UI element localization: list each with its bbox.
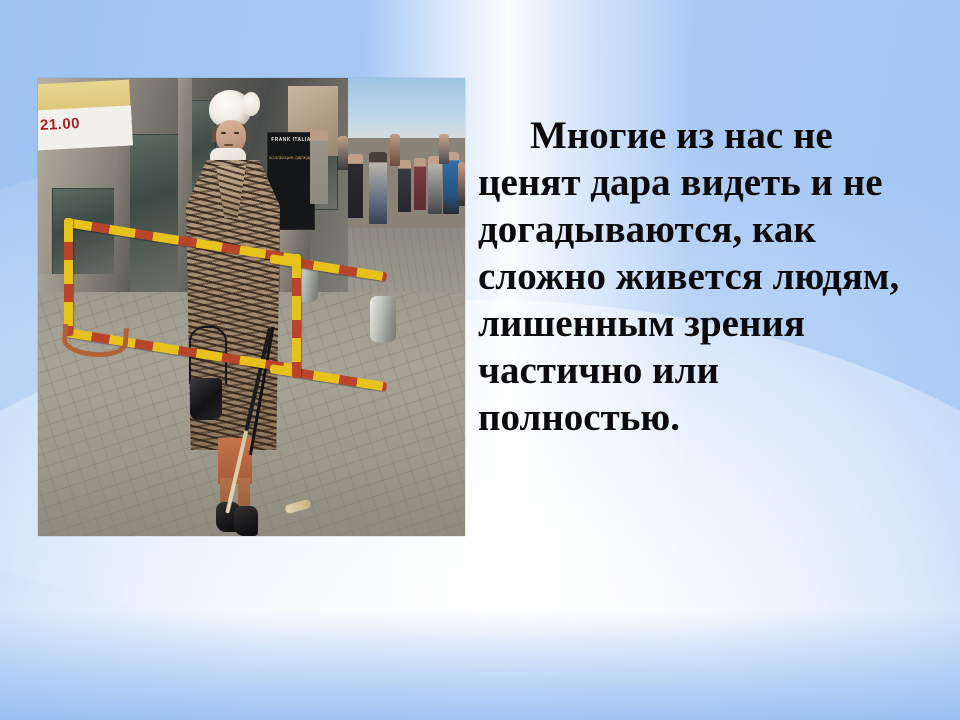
shop-window: [52, 188, 118, 286]
pedestrian: [439, 134, 449, 164]
pedestrian: [398, 160, 411, 212]
bollard: [370, 296, 396, 342]
mouth: [224, 144, 233, 146]
pedestrian: [458, 162, 465, 206]
sky-region: [338, 78, 465, 138]
pedestrian: [428, 156, 442, 214]
poster-title: FRANK ITALIA: [268, 137, 314, 143]
barrier-post-mid: [292, 254, 301, 378]
slide-canvas: 21.00 FRANK ITALIA КОЛЛЕКЦИЯ ОДЕЖДЫ: [0, 0, 960, 720]
pedestrian: [310, 130, 328, 204]
pedestrian: [338, 136, 348, 170]
photo-scene: 21.00 FRANK ITALIA КОЛЛЕКЦИЯ ОДЕЖДЫ: [38, 78, 465, 536]
pedestrian: [348, 154, 363, 218]
street-photo: 21.00 FRANK ITALIA КОЛЛЕКЦИЯ ОДЕЖДЫ: [38, 78, 465, 536]
pedestrian: [390, 134, 400, 166]
poster-subtitle: КОЛЛЕКЦИЯ ОДЕЖДЫ: [268, 155, 314, 160]
eye-left: [221, 132, 226, 134]
eye-right: [234, 132, 239, 134]
pedestrian: [414, 158, 426, 210]
background-bottom-shade: [0, 610, 960, 720]
pedestrian: [369, 152, 387, 224]
black-handbag: [190, 378, 222, 420]
boot-right: [234, 506, 258, 536]
slide-body-text: Многие из нас не ценят дара видеть и не …: [478, 112, 908, 441]
shop-window: [124, 134, 182, 296]
shop-hours-text: 21.00: [40, 115, 81, 134]
barrier-post-left: [64, 218, 73, 336]
hat-pompom: [242, 92, 260, 116]
